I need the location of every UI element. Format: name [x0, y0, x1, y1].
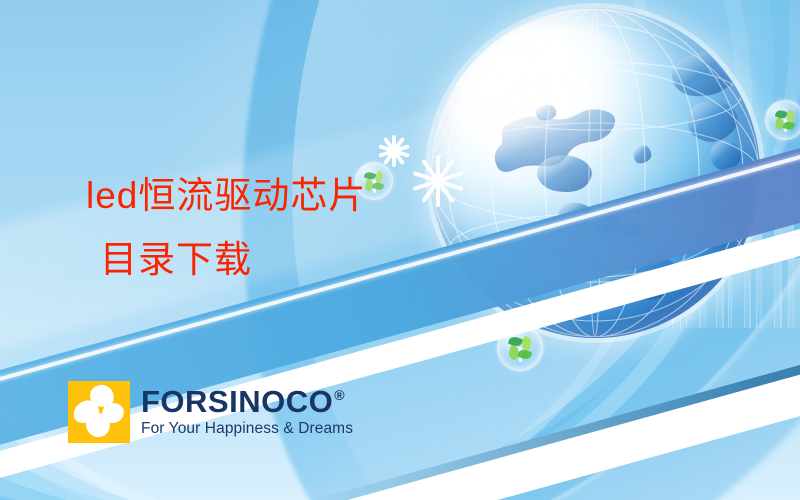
pinwheel-flower-icon	[68, 381, 130, 443]
logo-text-block: FORSINOCO® For Your Happiness & Dreams	[141, 386, 353, 438]
world-globe-icon	[430, 8, 760, 338]
brand-name: FORSINOCO®	[141, 386, 353, 418]
globe-sphere	[430, 8, 760, 338]
skyline-spire	[780, 186, 781, 328]
skyline-building	[788, 258, 800, 328]
headline-text: led恒流驱动芯片 目录下载	[86, 164, 366, 292]
promo-banner: led恒流驱动芯片 目录下载 FORSINOCO® For Your Happi…	[0, 0, 800, 500]
brand-logo[interactable]: FORSINOCO® For Your Happiness & Dreams	[68, 381, 353, 443]
bubble-windmill-icon	[765, 100, 800, 140]
flower-asterisk-icon	[412, 155, 464, 207]
globe-grid	[430, 8, 760, 338]
brand-tagline: For Your Happiness & Dreams	[141, 420, 353, 438]
flower-asterisk-icon	[378, 135, 410, 167]
headline-line-2: 目录下载	[86, 228, 366, 292]
brand-name-text: FORSINOCO	[141, 386, 333, 418]
headline-line-1: led恒流驱动芯片	[86, 175, 366, 216]
registered-trademark-icon: ®	[334, 388, 345, 402]
bubble-windmill-icon	[497, 325, 543, 371]
